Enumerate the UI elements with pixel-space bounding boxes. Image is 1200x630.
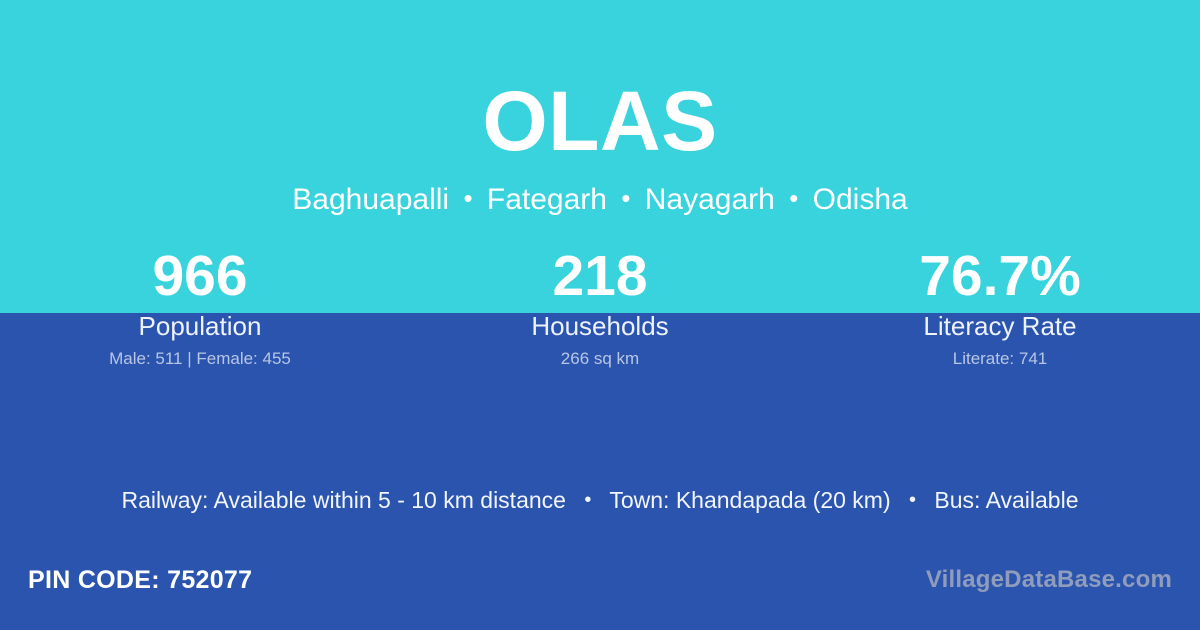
site-brand: VillageDataBase.com xyxy=(926,565,1172,595)
stat-population-detail: Male: 511 | Female: 455 xyxy=(0,349,400,369)
page-title: OLAS xyxy=(0,79,1200,163)
stat-literacy-rate: 76.7% Literacy Rate Literate: 741 xyxy=(800,243,1200,369)
breadcrumb-village: Baghuapalli xyxy=(292,183,449,216)
card-header: OLAS Baghuapalli • Fategarh • Nayagarh •… xyxy=(0,0,1200,216)
stat-population-value: 966 xyxy=(0,243,400,309)
stat-households: 218 Households 266 sq km xyxy=(400,243,800,369)
amenity-railway: Railway: Available within 5 - 10 km dist… xyxy=(121,487,565,513)
stat-literacy-rate-detail: Literate: 741 xyxy=(800,349,1200,369)
breadcrumb-district: Nayagarh xyxy=(645,183,775,216)
pin-code: PIN CODE: 752077 xyxy=(28,565,252,595)
breadcrumb-block: Fategarh xyxy=(487,183,607,216)
breadcrumb-state: Odisha xyxy=(813,183,908,216)
stat-literacy-rate-label: Literacy Rate xyxy=(800,311,1200,341)
amenity-separator-icon: • xyxy=(897,484,928,516)
amenities-line: Railway: Available within 5 - 10 km dist… xyxy=(0,484,1200,516)
stat-households-value: 218 xyxy=(400,243,800,309)
village-info-card: OLAS Baghuapalli • Fategarh • Nayagarh •… xyxy=(0,0,1200,630)
stat-population-label: Population xyxy=(0,311,400,341)
stat-population: 966 Population Male: 511 | Female: 455 xyxy=(0,243,400,369)
breadcrumb-separator-icon: • xyxy=(783,184,804,213)
breadcrumb: Baghuapalli • Fategarh • Nayagarh • Odis… xyxy=(0,183,1200,216)
breadcrumb-separator-icon: • xyxy=(457,184,478,213)
amenity-bus: Bus: Available xyxy=(934,487,1078,513)
stat-households-label: Households xyxy=(400,311,800,341)
amenity-separator-icon: • xyxy=(572,484,603,516)
amenity-town: Town: Khandapada (20 km) xyxy=(609,487,890,513)
breadcrumb-separator-icon: • xyxy=(615,184,636,213)
stat-households-detail: 266 sq km xyxy=(400,349,800,369)
statistics-row: 966 Population Male: 511 | Female: 455 2… xyxy=(0,243,1200,369)
card-footer: PIN CODE: 752077 VillageDataBase.com xyxy=(0,542,1200,630)
stat-literacy-rate-value: 76.7% xyxy=(800,243,1200,309)
